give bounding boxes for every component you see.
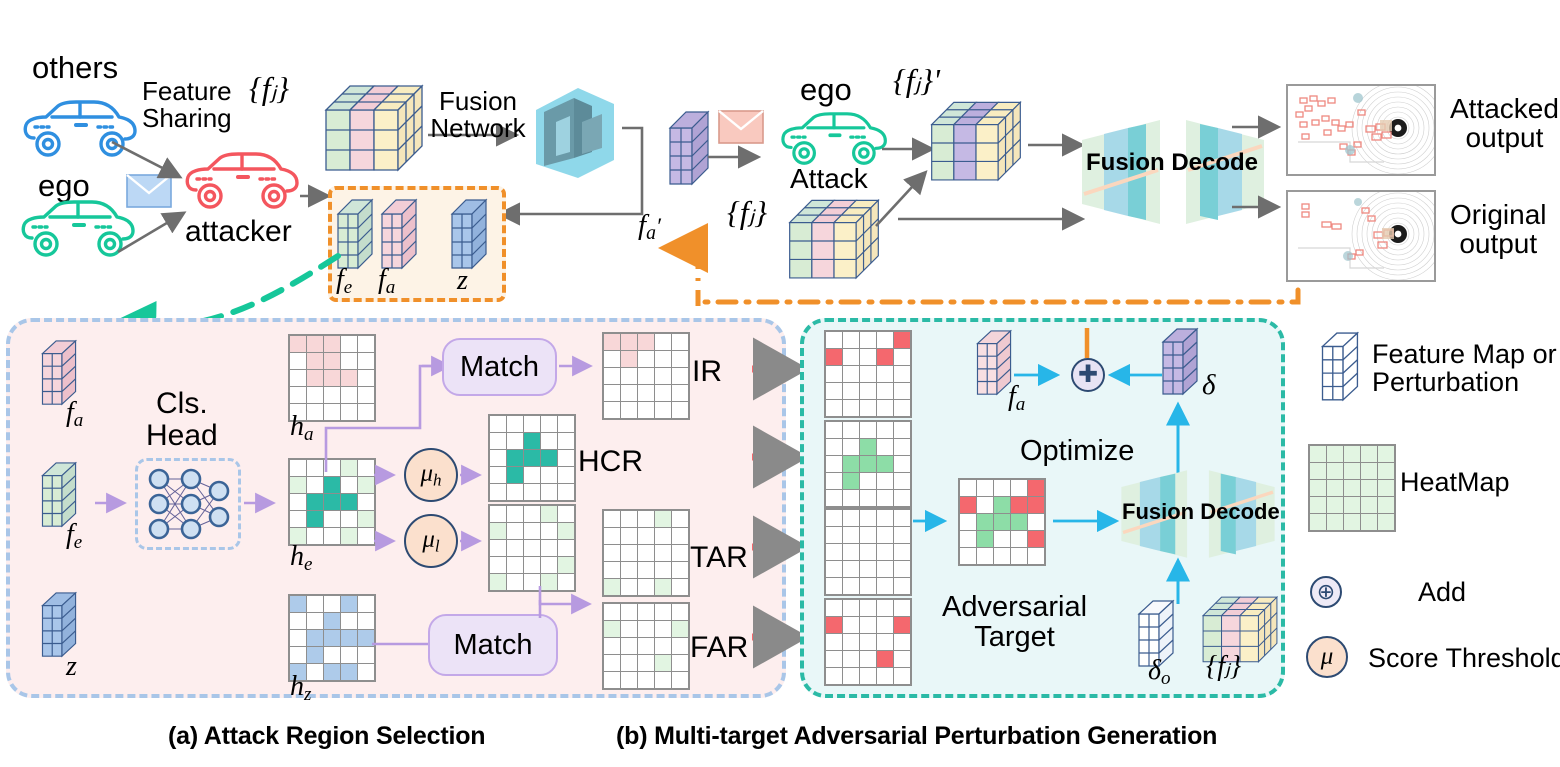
orange-feedback-bus	[690, 288, 1310, 312]
grid-cell	[621, 672, 637, 688]
grid-cell	[638, 368, 654, 384]
grid-cell	[894, 561, 910, 577]
grid-cell	[877, 561, 893, 577]
grid-cell	[826, 439, 842, 455]
grid-cell	[341, 370, 357, 386]
grid-cell	[655, 334, 671, 350]
grid-cell	[1344, 480, 1360, 496]
arrow-fusion-to-z	[596, 120, 736, 230]
grid-cell	[1327, 446, 1343, 462]
match-box-bottom[interactable]: Match	[428, 614, 558, 676]
grid-ir	[602, 332, 690, 420]
grid-cell	[655, 402, 671, 418]
grid-cell	[621, 351, 637, 367]
grid-cell	[843, 527, 859, 543]
grid-cell	[843, 544, 859, 560]
grid-cell	[638, 511, 654, 527]
grid-cell	[894, 332, 910, 348]
grid-cell	[341, 387, 357, 403]
cls-head-mlp-box	[135, 458, 241, 550]
grid-cell	[877, 544, 893, 560]
grid-cell	[826, 510, 842, 526]
grid-cell	[894, 422, 910, 438]
grid-cell	[358, 528, 374, 544]
grid-cell	[843, 400, 859, 416]
grid-cell	[541, 416, 557, 432]
grid-cell	[1327, 497, 1343, 513]
label-tar: TAR	[690, 542, 748, 574]
grid-cell	[324, 630, 340, 646]
grid-cell	[490, 574, 506, 590]
grid-cell	[507, 416, 523, 432]
grid-cell	[638, 545, 654, 561]
grid-cell	[877, 422, 893, 438]
grid-cell	[960, 480, 976, 496]
grid-cell	[672, 672, 688, 688]
grid-cell	[1310, 463, 1326, 479]
grid-cell	[843, 332, 859, 348]
grid-cell	[490, 416, 506, 432]
label-fusion-decode-top: Fusion Decode	[1086, 150, 1258, 175]
grid-cell	[621, 579, 637, 595]
grid-cell	[507, 450, 523, 466]
grid-cell	[860, 651, 876, 667]
grid-cell	[541, 557, 557, 573]
grid-cell	[860, 490, 876, 506]
grid-cell	[558, 450, 574, 466]
grid-cell	[558, 416, 574, 432]
grid-cell	[843, 490, 859, 506]
grid-cell	[1361, 480, 1377, 496]
grid-cell	[860, 456, 876, 472]
grid-cell	[1361, 514, 1377, 530]
grid-cell	[1378, 514, 1394, 530]
feature-cube-fj-top	[322, 82, 426, 183]
grid-cell	[894, 600, 910, 616]
grid-cell	[826, 668, 842, 684]
grid-cell	[672, 511, 688, 527]
label-fa-prime: fa′	[638, 210, 661, 244]
grid-cell	[994, 531, 1010, 547]
grid-cell	[558, 467, 574, 483]
grid-cell	[655, 562, 671, 578]
grid-cell	[524, 484, 540, 500]
grid-cell	[541, 523, 557, 539]
grid-mid-green	[488, 504, 576, 592]
grid-cell	[307, 387, 323, 403]
grid-cell	[894, 651, 910, 667]
grid-cell	[507, 523, 523, 539]
grid-cell	[894, 490, 910, 506]
label-fusion-decode-panel-b: Fusion Decode	[1122, 500, 1280, 523]
grid-cell	[826, 422, 842, 438]
grid-cell	[324, 387, 340, 403]
grid-cell	[507, 467, 523, 483]
grid-cell	[826, 561, 842, 577]
grid-cell	[507, 506, 523, 522]
grid-cell	[507, 484, 523, 500]
grid-cell	[1344, 463, 1360, 479]
grid-cell	[290, 613, 306, 629]
grid-cell	[843, 439, 859, 455]
grid-cell	[604, 385, 620, 401]
grid-cell	[1028, 497, 1044, 513]
grid-cell	[860, 617, 876, 633]
grid-cell	[621, 638, 637, 654]
label-fj-set-bottom: {fⱼ}	[727, 196, 767, 230]
grid-cell	[541, 506, 557, 522]
grid-cell	[655, 351, 671, 367]
grid-cell	[672, 351, 688, 367]
envelope-pink-icon	[718, 110, 764, 149]
grid-cell	[324, 370, 340, 386]
grid-cell	[341, 511, 357, 527]
grid-cell	[604, 655, 620, 671]
grid-cell	[894, 383, 910, 399]
grid-cell	[1310, 446, 1326, 462]
grid-cell	[324, 528, 340, 544]
grid-cell	[877, 668, 893, 684]
grid-cell	[541, 484, 557, 500]
grid-cell	[826, 473, 842, 489]
connector-hz-to-match	[372, 636, 432, 652]
grid-cell	[672, 385, 688, 401]
grid-cell	[621, 621, 637, 637]
grid-cell	[672, 528, 688, 544]
grid-cell	[524, 433, 540, 449]
panel-b-label-fj: {fⱼ}	[1206, 652, 1241, 681]
grid-cell	[860, 510, 876, 526]
grid-cell	[977, 497, 993, 513]
grid-cell	[638, 604, 654, 620]
grid-cell	[1378, 480, 1394, 496]
grid-cell	[341, 528, 357, 544]
grid-cell	[358, 596, 374, 612]
grid-cell	[843, 383, 859, 399]
match-box-top[interactable]: Match	[442, 338, 557, 396]
grid-cell	[638, 672, 654, 688]
legend-label-score-threshold: Score Threshold	[1368, 644, 1560, 672]
label-hz: hz	[290, 672, 311, 705]
grid-cell	[894, 473, 910, 489]
grid-cell	[860, 527, 876, 543]
grid-cell	[877, 634, 893, 650]
grid-cell	[358, 370, 374, 386]
grid-cell	[877, 600, 893, 616]
grid-cell	[524, 450, 540, 466]
grid-cell	[324, 511, 340, 527]
grid-cell	[826, 634, 842, 650]
grid-target-in3	[824, 508, 912, 596]
grid-cell	[507, 574, 523, 590]
grid-cell	[638, 562, 654, 578]
grid-cell	[977, 514, 993, 530]
connector-match-up	[540, 596, 564, 622]
grid-cell	[1028, 548, 1044, 564]
label-feature-sharing: Feature Sharing	[142, 78, 232, 133]
grid-cell	[621, 545, 637, 561]
grid-cell	[672, 562, 688, 578]
grid-cell	[672, 402, 688, 418]
legend-mu-circle-icon: μ	[1306, 636, 1348, 678]
grid-cell	[826, 527, 842, 543]
grid-cell	[1310, 497, 1326, 513]
orange-tick-into-add	[1081, 328, 1093, 360]
grid-cell	[826, 651, 842, 667]
label-fj-set-prime: {fⱼ}'	[893, 64, 940, 98]
grid-cell	[672, 655, 688, 671]
grid-cell	[490, 484, 506, 500]
grid-cell	[672, 638, 688, 654]
grid-cell	[655, 545, 671, 561]
grid-cell	[1361, 463, 1377, 479]
grid-cell	[826, 400, 842, 416]
arrow-decoder-to-original	[1232, 198, 1292, 216]
grid-cell	[341, 596, 357, 612]
grid-cell	[1361, 497, 1377, 513]
grid-cell	[655, 511, 671, 527]
grid-cell	[860, 422, 876, 438]
grid-cell	[638, 402, 654, 418]
grid-cell	[307, 613, 323, 629]
grid-cell	[877, 400, 893, 416]
grid-cell	[638, 655, 654, 671]
grid-cell	[324, 613, 340, 629]
grid-cell	[1327, 463, 1343, 479]
grid-cell	[877, 456, 893, 472]
grid-cell	[307, 336, 323, 352]
grid-cell	[507, 540, 523, 556]
grid-cell	[843, 349, 859, 365]
grid-cell	[541, 450, 557, 466]
grid-cell	[621, 511, 637, 527]
grid-cell	[604, 638, 620, 654]
heatmap-hz	[288, 594, 376, 682]
grid-cell	[1378, 463, 1394, 479]
grid-cell	[621, 334, 637, 350]
grid-cell	[894, 544, 910, 560]
panel-a-label-z: z	[66, 652, 77, 681]
label-z-top: z	[457, 266, 468, 295]
grid-cell	[843, 651, 859, 667]
grid-cell	[655, 368, 671, 384]
grid-cell	[524, 557, 540, 573]
grid-target-in2	[824, 420, 912, 508]
grid-cell	[843, 561, 859, 577]
grid-cell	[558, 506, 574, 522]
grid-cell	[960, 531, 976, 547]
grid-cell	[638, 638, 654, 654]
grid-cell	[524, 467, 540, 483]
legend-label-heatmap: HeatMap	[1400, 468, 1510, 496]
grid-cell	[894, 668, 910, 684]
grid-cell	[826, 456, 842, 472]
grid-cell	[860, 366, 876, 382]
grid-cell	[860, 349, 876, 365]
grid-cell	[621, 562, 637, 578]
grid-cell	[1344, 514, 1360, 530]
grid-cell	[877, 439, 893, 455]
grid-cell	[1028, 514, 1044, 530]
grid-cell	[341, 664, 357, 680]
grid-cell	[558, 523, 574, 539]
grid-cell	[843, 668, 859, 684]
grid-cell	[843, 473, 859, 489]
grid-cell	[1011, 480, 1027, 496]
grid-cell	[541, 467, 557, 483]
grid-cell	[307, 494, 323, 510]
grid-cell	[826, 490, 842, 506]
grid-cell	[877, 490, 893, 506]
grid-cell	[877, 651, 893, 667]
grid-cell	[894, 400, 910, 416]
grid-cell	[877, 366, 893, 382]
label-far: FAR	[690, 632, 748, 664]
grid-cell	[490, 557, 506, 573]
grid-cell	[860, 578, 876, 594]
grid-cell	[1344, 446, 1360, 462]
caption-panel-b: (b) Multi-target Adversarial Perturbatio…	[616, 722, 1217, 751]
grid-cell	[358, 353, 374, 369]
grid-cell	[894, 634, 910, 650]
grid-cell	[826, 617, 842, 633]
feature-slab-z	[450, 196, 490, 279]
grid-cell	[307, 511, 323, 527]
grid-cell	[307, 630, 323, 646]
grid-cell	[655, 655, 671, 671]
grid-cell	[358, 336, 374, 352]
grid-cell	[341, 647, 357, 663]
grid-cell	[843, 634, 859, 650]
mu-l-circle: μl	[404, 514, 458, 568]
mu-h-circle: μh	[404, 448, 458, 502]
grid-cell	[604, 621, 620, 637]
grid-cell	[358, 664, 374, 680]
arrow-fa-to-add	[1014, 366, 1074, 384]
label-ego-right: ego	[800, 74, 852, 107]
grid-adversarial-target	[958, 478, 1046, 566]
output-image-attacked	[1286, 84, 1436, 176]
grid-cell	[672, 604, 688, 620]
grid-cell	[860, 544, 876, 560]
label-cls-head: Cls. Head	[146, 388, 218, 451]
grid-cell	[341, 494, 357, 510]
figure-canvas: others Feature Sharing ego	[0, 0, 1560, 767]
grid-cell	[290, 387, 306, 403]
grid-cell	[290, 511, 306, 527]
grid-cell	[1011, 548, 1027, 564]
grid-cell	[1378, 446, 1394, 462]
grid-cell	[1028, 480, 1044, 496]
grid-cell	[604, 672, 620, 688]
grid-cell	[307, 647, 323, 663]
grid-cell	[655, 638, 671, 654]
grid-cell	[290, 353, 306, 369]
grid-cell	[507, 433, 523, 449]
grid-cell	[307, 370, 323, 386]
legend-label-add: Add	[1418, 578, 1466, 606]
grid-cell	[490, 450, 506, 466]
grid-cell	[860, 400, 876, 416]
grid-cell	[1344, 497, 1360, 513]
grid-cell	[490, 523, 506, 539]
grid-cell	[324, 353, 340, 369]
grid-cell	[558, 540, 574, 556]
grid-cell	[358, 387, 374, 403]
grid-cell	[655, 621, 671, 637]
grid-cell	[877, 383, 893, 399]
grid-cell	[894, 510, 910, 526]
grid-cell	[994, 480, 1010, 496]
grid-cell	[977, 531, 993, 547]
label-he: he	[290, 542, 312, 575]
grid-cell	[960, 514, 976, 530]
grid-far	[602, 602, 690, 690]
grid-cell	[490, 506, 506, 522]
label-original-output: Original output	[1450, 200, 1546, 259]
legend-label-feature-map: Feature Map or Perturbation	[1372, 340, 1557, 397]
grid-cell	[1028, 531, 1044, 547]
grid-cell	[638, 385, 654, 401]
arrow-fj-to-decoder	[898, 210, 1098, 228]
grid-cell	[290, 477, 306, 493]
grid-cell	[341, 630, 357, 646]
grid-cell	[826, 544, 842, 560]
caption-panel-a: (a) Attack Region Selection	[168, 722, 485, 751]
grid-cell	[307, 596, 323, 612]
grid-cell	[1310, 480, 1326, 496]
label-optimize: Optimize	[1020, 436, 1134, 466]
grid-cell	[638, 621, 654, 637]
grid-cell	[877, 473, 893, 489]
arrow-fa-prime-to-ego	[708, 148, 772, 166]
arrow-he-to-mul	[374, 533, 408, 549]
grid-cell	[341, 353, 357, 369]
grid-cell	[604, 402, 620, 418]
grid-cell	[524, 506, 540, 522]
grid-cell	[655, 672, 671, 688]
grid-cell	[638, 334, 654, 350]
grid-cell	[621, 528, 637, 544]
grid-cell	[843, 617, 859, 633]
grid-cell	[638, 579, 654, 595]
grid-cell	[994, 548, 1010, 564]
grid-cell	[860, 561, 876, 577]
grid-cell	[290, 596, 306, 612]
grid-cell	[290, 460, 306, 476]
arrow-delta-to-add	[1104, 366, 1166, 384]
grid-cell	[843, 510, 859, 526]
grid-cell	[621, 385, 637, 401]
grid-cell	[877, 332, 893, 348]
grid-cell	[507, 557, 523, 573]
panel-b-label-fa: fa	[1008, 382, 1025, 415]
grid-cell	[826, 600, 842, 616]
grid-cell	[558, 433, 574, 449]
grid-cell	[655, 604, 671, 620]
grid-cell	[1378, 497, 1394, 513]
grid-cell	[877, 617, 893, 633]
label-adversarial-target: Adversarial Target	[942, 592, 1087, 653]
grid-cell	[894, 349, 910, 365]
grid-cell	[860, 332, 876, 348]
grid-cell	[604, 545, 620, 561]
grid-cell	[672, 621, 688, 637]
arrow-inputs-to-target	[913, 512, 959, 530]
grid-cell	[1361, 446, 1377, 462]
grid-cell	[860, 439, 876, 455]
grid-cell	[672, 545, 688, 561]
